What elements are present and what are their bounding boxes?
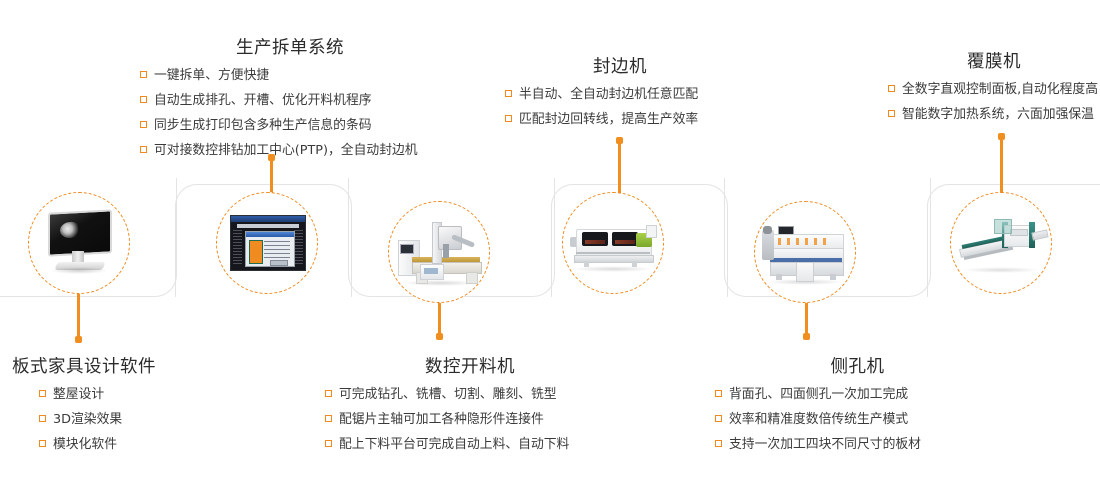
block-title: 生产拆单系统: [140, 38, 440, 59]
node-side-hole-drilling-machine[interactable]: [754, 201, 856, 303]
list-item: 配上下料平台可完成自动上料、自动下料: [325, 437, 615, 453]
list-item-label: 匹配封边回转线，提高生产效率: [519, 112, 698, 128]
bullet-square-icon: [325, 390, 332, 397]
side-driller-icon: [762, 214, 848, 290]
list-item: 配锯片主轴可加工各种隐形件连接件: [325, 412, 615, 428]
edge-bander-icon: [570, 205, 656, 281]
list-item-label: 自动生成排孔、开槽、优化开料机程序: [154, 93, 372, 109]
bullet-square-icon: [888, 85, 895, 92]
bullet-square-icon: [505, 90, 512, 97]
infographic-canvas: 生产拆单系统 一键拆单、方便快捷 自动生成排孔、开槽、优化开料机程序 同步生成打…: [0, 0, 1100, 495]
monitor-imac-icon: [36, 205, 122, 281]
list-item-label: 一键拆单、方便快捷: [154, 68, 269, 84]
connector-dot: [616, 137, 623, 144]
bullet-square-icon: [325, 440, 332, 447]
bullet-square-icon: [39, 390, 46, 397]
node-production-splitting-software[interactable]: [216, 192, 318, 294]
list-item-label: 智能数字加热系统，六面加强保温: [902, 107, 1094, 123]
bullet-square-icon: [140, 121, 147, 128]
bullet-square-icon: [715, 390, 722, 397]
block-title: 封边机: [505, 57, 735, 78]
list-item-label: 可完成钻孔、铣槽、切割、雕刻、铣型: [339, 387, 557, 403]
feature-list: 一键拆单、方便快捷 自动生成排孔、开槽、优化开料机程序 同步生成打印包含多种生产…: [140, 68, 440, 159]
list-item-label: 同步生成打印包含多种生产信息的条码: [154, 118, 372, 134]
connector-stem-design-software: [77, 292, 80, 340]
bullet-square-icon: [888, 110, 895, 117]
bullet-square-icon: [715, 440, 722, 447]
block-production-system: 生产拆单系统 一键拆单、方便快捷 自动生成排孔、开槽、优化开料机程序 同步生成打…: [140, 38, 440, 159]
block-title: 覆膜机: [888, 52, 1100, 73]
list-item-label: 配锯片主轴可加工各种隐形件连接件: [339, 412, 544, 428]
list-item-label: 模块化软件: [53, 437, 117, 453]
list-item-label: 整屋设计: [53, 387, 104, 403]
block-edge-banding: 封边机 半自动、全自动封边机任意匹配 匹配封边回转线，提高生产效率: [505, 57, 735, 128]
cnc-router-icon: [396, 214, 482, 290]
block-laminating: 覆膜机 全数字直观控制面板,自动化程度高 智能数字加热系统，六面加强保温: [888, 52, 1100, 123]
list-item-label: 配上下料平台可完成自动上料、自动下料: [339, 437, 569, 453]
feature-list: 半自动、全自动封边机任意匹配 匹配封边回转线，提高生产效率: [505, 87, 735, 128]
block-title: 数控开料机: [325, 357, 615, 378]
list-item: 匹配封边回转线，提高生产效率: [505, 112, 735, 128]
bullet-square-icon: [140, 96, 147, 103]
feature-list: 背面孔、四面侧孔一次加工完成 效率和精准度数倍传统生产模式 支持一次加工四块不同…: [715, 387, 1000, 453]
list-item-label: 全数字直观控制面板,自动化程度高: [902, 82, 1098, 98]
process-flow-band: [0, 178, 1100, 306]
software-screen-icon: [224, 205, 310, 281]
node-edge-banding-machine[interactable]: [562, 192, 664, 294]
node-laminating-machine[interactable]: [950, 192, 1052, 294]
connector-dot: [436, 333, 443, 340]
bullet-square-icon: [39, 415, 46, 422]
block-side-drilling: 侧孔机 背面孔、四面侧孔一次加工完成 效率和精准度数倍传统生产模式 支持一次加工…: [715, 357, 1000, 453]
connector-dot: [75, 336, 82, 343]
bullet-square-icon: [39, 440, 46, 447]
feature-list: 全数字直观控制面板,自动化程度高 智能数字加热系统，六面加强保温: [888, 82, 1100, 123]
list-item: 背面孔、四面侧孔一次加工完成: [715, 387, 1000, 403]
list-item: 半自动、全自动封边机任意匹配: [505, 87, 735, 103]
list-item: 智能数字加热系统，六面加强保温: [888, 107, 1100, 123]
bullet-square-icon: [505, 115, 512, 122]
list-item-label: 半自动、全自动封边机任意匹配: [519, 87, 698, 103]
node-design-software[interactable]: [28, 192, 130, 294]
list-item: 同步生成打印包含多种生产信息的条码: [140, 118, 440, 134]
list-item: 自动生成排孔、开槽、优化开料机程序: [140, 93, 440, 109]
list-item: 整屋设计: [39, 387, 202, 403]
block-title: 侧孔机: [715, 357, 1000, 378]
connector-dot: [998, 133, 1005, 140]
node-cnc-router[interactable]: [388, 201, 490, 303]
list-item: 全数字直观控制面板,自动化程度高: [888, 82, 1100, 98]
block-cnc-cutting: 数控开料机 可完成钻孔、铣槽、切割、雕刻、铣型 配锯片主轴可加工各种隐形件连接件…: [325, 357, 615, 453]
bullet-square-icon: [140, 71, 147, 78]
bullet-square-icon: [325, 415, 332, 422]
list-item-label: 背面孔、四面侧孔一次加工完成: [729, 387, 908, 403]
list-item: 效率和精准度数倍传统生产模式: [715, 412, 1000, 428]
block-design-software: 板式家具设计软件 整屋设计 3D渲染效果 模块化软件: [12, 357, 202, 453]
list-item: 可完成钻孔、铣槽、切割、雕刻、铣型: [325, 387, 615, 403]
bullet-square-icon: [715, 415, 722, 422]
list-item: 支持一次加工四块不同尺寸的板材: [715, 437, 1000, 453]
list-item: 一键拆单、方便快捷: [140, 68, 440, 84]
list-item: 可对接数控排钻加工中心(PTP)，全自动封边机: [140, 143, 440, 159]
connector-dot: [803, 333, 810, 340]
laminator-icon: [958, 205, 1044, 281]
list-item-label: 效率和精准度数倍传统生产模式: [729, 412, 908, 428]
feature-list: 整屋设计 3D渲染效果 模块化软件: [12, 387, 202, 453]
feature-list: 可完成钻孔、铣槽、切割、雕刻、铣型 配锯片主轴可加工各种隐形件连接件 配上下料平…: [325, 387, 615, 453]
list-item: 3D渲染效果: [39, 412, 202, 428]
list-item-label: 3D渲染效果: [53, 412, 122, 428]
block-title: 板式家具设计软件: [12, 357, 202, 378]
bullet-square-icon: [140, 146, 147, 153]
list-item: 模块化软件: [39, 437, 202, 453]
list-item-label: 支持一次加工四块不同尺寸的板材: [729, 437, 921, 453]
list-item-label: 可对接数控排钻加工中心(PTP)，全自动封边机: [154, 143, 418, 159]
